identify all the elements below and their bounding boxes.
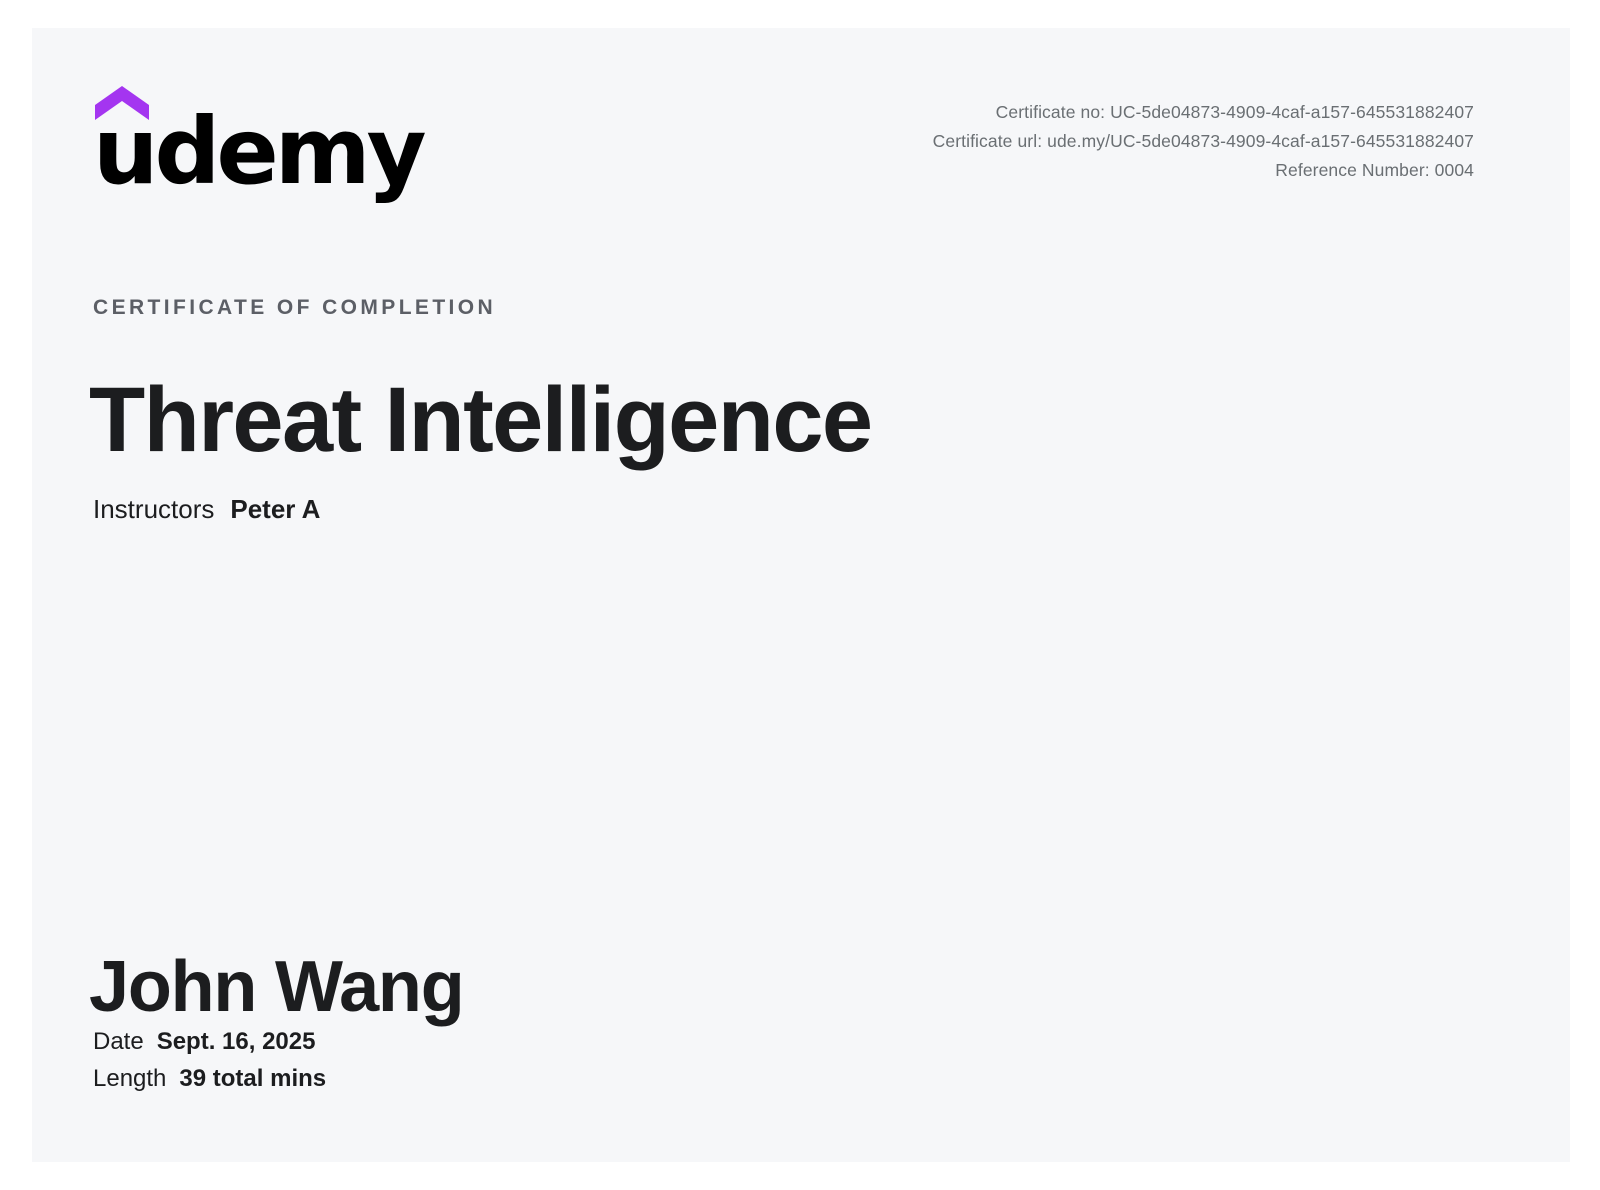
udemy-logo: udemy xyxy=(93,86,363,196)
date-value: Sept. 16, 2025 xyxy=(157,1028,316,1055)
certificate-metadata: Certificate no: UC-5de04873-4909-4caf-a1… xyxy=(933,98,1474,185)
length-value: 39 total mins xyxy=(179,1065,326,1092)
certificate-card: udemy Certificate no: UC-5de04873-4909-4… xyxy=(32,28,1570,1162)
certificate-page: udemy Certificate no: UC-5de04873-4909-4… xyxy=(0,0,1600,1190)
instructors-value: Peter A xyxy=(230,494,320,524)
certificate-eyebrow: CERTIFICATE OF COMPLETION xyxy=(93,296,496,320)
length-row: Length39 total mins xyxy=(93,1065,326,1093)
certificate-header: udemy Certificate no: UC-5de04873-4909-4… xyxy=(32,28,1570,228)
course-title: Threat Intelligence xyxy=(89,371,871,470)
date-label: Date xyxy=(93,1028,144,1055)
certificate-url: Certificate url: ude.my/UC-5de04873-4909… xyxy=(933,127,1474,156)
length-label: Length xyxy=(93,1065,166,1092)
udemy-wordmark: udemy xyxy=(93,106,423,198)
instructors-label: Instructors xyxy=(93,494,214,524)
date-row: DateSept. 16, 2025 xyxy=(93,1028,315,1056)
certificate-number: Certificate no: UC-5de04873-4909-4caf-a1… xyxy=(933,98,1474,127)
reference-number: Reference Number: 0004 xyxy=(933,156,1474,185)
instructors-row: InstructorsPeter A xyxy=(93,494,320,525)
recipient-name: John Wang xyxy=(89,948,463,1027)
